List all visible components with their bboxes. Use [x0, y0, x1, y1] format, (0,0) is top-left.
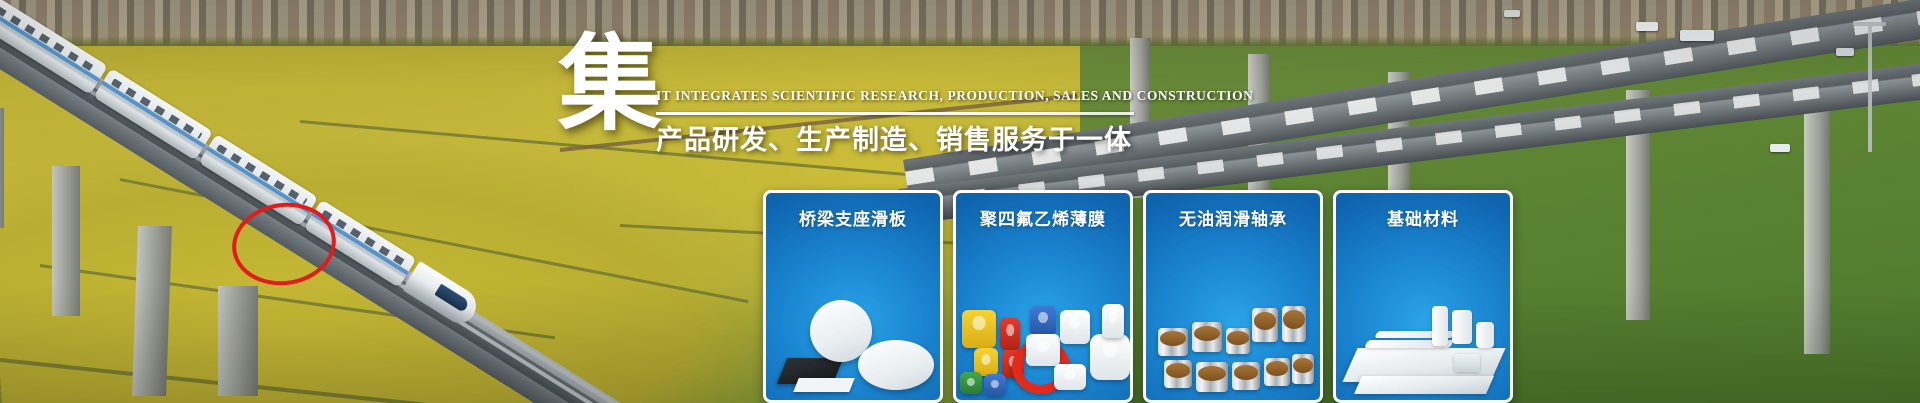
- film-roll: [1090, 334, 1130, 380]
- headline-big-character: 集: [556, 28, 664, 144]
- product-card-title: 桥梁支座滑板: [766, 205, 940, 230]
- viaduct-pier: [52, 166, 80, 316]
- bearing-bushing: [1192, 322, 1222, 352]
- tape-roll: [984, 374, 1006, 396]
- bearing-bushing: [1164, 360, 1192, 388]
- vehicle: [1636, 22, 1658, 31]
- product-image-ptfe-film-rolls: [956, 250, 1130, 400]
- bearing-bushing: [1232, 362, 1260, 390]
- material-slab: [1354, 376, 1494, 394]
- headline-chinese-tagline: 产品研发、生产制造、销售服务于一体: [656, 118, 1156, 157]
- product-card-ptfe-film[interactable]: 聚四氟乙烯薄膜: [953, 190, 1133, 403]
- product-card-oil-free-bearing[interactable]: 无油润滑轴承: [1143, 190, 1323, 403]
- material-block: [1454, 354, 1480, 372]
- bearing-bushing: [1226, 328, 1250, 354]
- product-image-oil-free-bearings: [1146, 250, 1320, 400]
- vehicle: [1504, 10, 1520, 17]
- material-cylinder: [1476, 322, 1494, 348]
- vehicle-bus: [1680, 30, 1714, 41]
- bearing-bushing: [1264, 358, 1290, 386]
- headline-english-tagline: IT INTEGRATES SCIENTIFIC RESEARCH, PRODU…: [656, 88, 1136, 104]
- tape-roll: [1000, 318, 1020, 350]
- viaduct-pier: [218, 286, 258, 396]
- product-card-list: 桥梁支座滑板 聚四氟乙烯薄膜: [763, 190, 1513, 403]
- material-cylinder: [1452, 310, 1472, 344]
- bearing-bushing: [1282, 306, 1306, 342]
- product-card-title: 基础材料: [1336, 205, 1510, 230]
- slide-plate-white: [793, 378, 855, 392]
- product-image-base-materials: [1336, 250, 1510, 400]
- film-roll: [1102, 304, 1124, 338]
- product-card-bridge-bearing-slide-plate[interactable]: 桥梁支座滑板: [763, 190, 943, 403]
- bearing-bushing: [1158, 328, 1188, 356]
- headline-divider: [656, 112, 1134, 115]
- film-roll: [1060, 310, 1090, 344]
- tape-roll: [962, 310, 996, 348]
- bearing-bushing: [1196, 362, 1228, 392]
- viaduct-pier: [0, 108, 4, 228]
- product-card-title: 聚四氟乙烯薄膜: [956, 205, 1130, 230]
- tape-roll: [1030, 306, 1056, 336]
- product-card-title: 无油润滑轴承: [1146, 205, 1320, 230]
- tape-roll: [960, 372, 982, 394]
- material-cylinder: [1432, 306, 1448, 346]
- motorway-pier: [1804, 104, 1830, 354]
- vehicle: [1836, 48, 1854, 56]
- headline-block: 集 IT INTEGRATES SCIENTIFIC RESEARCH, PRO…: [556, 28, 1136, 148]
- ptfe-disc: [858, 340, 934, 390]
- film-roll: [1026, 334, 1060, 366]
- hero-banner: 集 IT INTEGRATES SCIENTIFIC RESEARCH, PRO…: [0, 0, 1920, 403]
- vehicle: [1770, 144, 1790, 152]
- viaduct-pier: [132, 226, 172, 396]
- bearing-bushing: [1292, 354, 1314, 384]
- product-image-bridge-bearing-slide-plate: [766, 250, 940, 400]
- bearing-bushing: [1252, 308, 1278, 342]
- film-roll: [1054, 364, 1086, 390]
- utility-pole: [1868, 22, 1872, 152]
- product-card-base-materials[interactable]: 基础材料: [1333, 190, 1513, 403]
- train-windshield: [434, 284, 470, 313]
